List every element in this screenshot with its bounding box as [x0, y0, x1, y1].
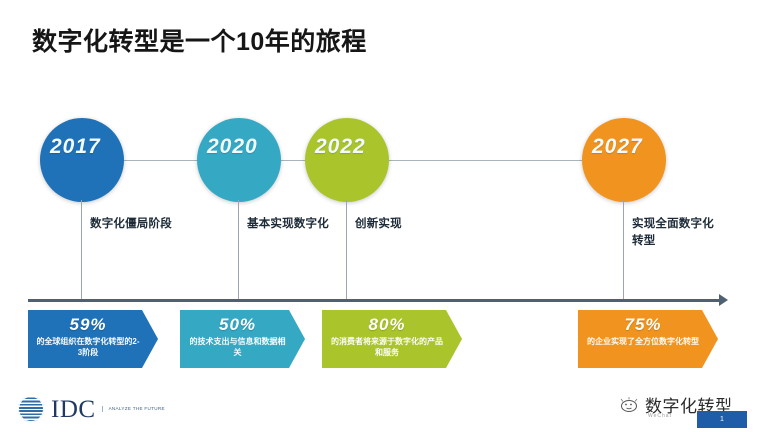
globe-icon [18, 396, 44, 422]
stat-description: 的技术支出与信息和数据相关 [180, 336, 295, 358]
milestone-year: 2022 [315, 135, 393, 159]
connector-line-3 [389, 160, 582, 161]
connector-line-2 [281, 160, 305, 161]
milestone-stem [238, 200, 239, 300]
stat-description: 的企业实现了全方位数字化转型 [578, 336, 708, 347]
stat-chevron-80[interactable]: 80% 的消费者将来源于数字化的产品和服务 [322, 310, 462, 368]
slide-canvas: 数字化转型是一个10年的旅程 2017 数字化僵局阶段 2020 基本实现数字化… [0, 0, 768, 432]
connector-line-1 [124, 160, 197, 161]
milestone-label: 实现全面数字化转型 [632, 216, 718, 249]
stat-chevron-59[interactable]: 59% 的全球组织在数字化转型的2-3阶段 [28, 310, 158, 368]
milestone-stem [623, 200, 624, 300]
stat-percent: 50% [180, 315, 295, 335]
wechat-sublabel: WeChat [648, 413, 672, 419]
milestone-circle[interactable]: 2027 [582, 118, 666, 202]
page-title: 数字化转型是一个10年的旅程 [32, 22, 367, 58]
wechat-mascot-icon [618, 396, 640, 414]
stat-description: 的消费者将来源于数字化的产品和服务 [322, 336, 452, 358]
milestone-label: 基本实现数字化 [247, 216, 333, 233]
stat-chevron-50[interactable]: 50% 的技术支出与信息和数据相关 [180, 310, 305, 368]
milestone-stem [346, 200, 347, 300]
milestone-circle[interactable]: 2020 [197, 118, 281, 202]
milestone-circle[interactable]: 2022 [305, 118, 389, 202]
milestone-label: 创新实现 [355, 216, 441, 233]
page-number-badge: 1 [697, 411, 747, 428]
idc-logo: IDC Analyze the Future [18, 396, 165, 422]
milestone-label: 数字化僵局阶段 [90, 216, 176, 233]
idc-tagline: Analyze the Future [102, 406, 165, 413]
stat-percent: 80% [322, 315, 452, 335]
milestone-2022[interactable]: 2022 创新实现 [305, 118, 389, 202]
timeline-axis [28, 299, 721, 302]
timeline-arrow-icon [719, 294, 728, 306]
milestone-year: 2020 [207, 135, 285, 159]
milestone-circle[interactable]: 2017 [40, 118, 124, 202]
milestone-2020[interactable]: 2020 基本实现数字化 [197, 118, 281, 202]
stat-description: 的全球组织在数字化转型的2-3阶段 [28, 336, 148, 358]
milestone-stem [81, 200, 82, 300]
stat-chevron-75[interactable]: 75% 的企业实现了全方位数字化转型 [578, 310, 718, 368]
stat-percent: 59% [28, 315, 148, 335]
idc-wordmark: IDC [51, 397, 96, 422]
milestone-2017[interactable]: 2017 数字化僵局阶段 [40, 118, 124, 202]
stat-percent: 75% [578, 315, 708, 335]
milestone-2027[interactable]: 2027 实现全面数字化转型 [582, 118, 666, 202]
milestone-year: 2017 [50, 135, 128, 159]
milestone-year: 2027 [592, 135, 670, 159]
